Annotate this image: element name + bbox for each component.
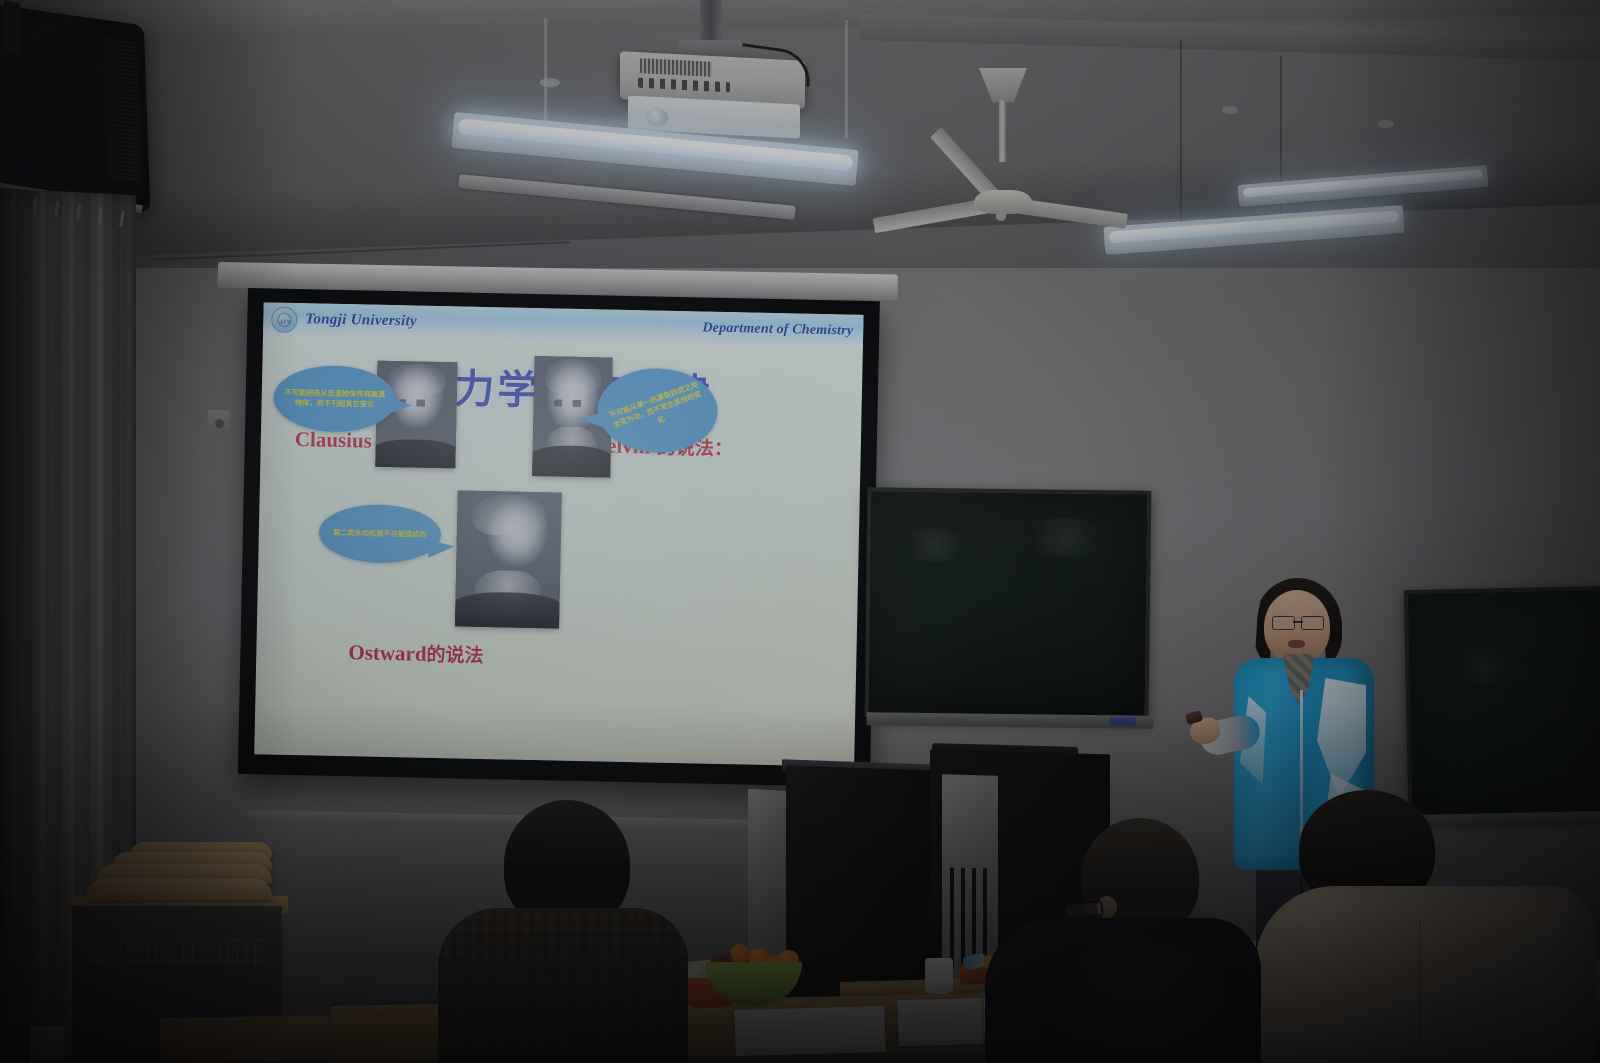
speech-bubble-ostward: 第二类永动机是不可能造成的 — [318, 504, 441, 565]
portrait-shoulders-kelvin — [532, 445, 612, 478]
portrait-ostward — [455, 490, 562, 628]
portrait-shoulders-clausius — [375, 439, 457, 468]
statement-label-ostward: Ostward的说法 — [348, 638, 484, 668]
bottom-shadow-overlay — [0, 703, 1600, 1063]
fan-downrod — [999, 100, 1006, 162]
statement-suffix-ostward: 的说法 — [426, 644, 483, 667]
speech-bubble-tail-ostward — [428, 540, 454, 559]
portrait-face-ostward — [455, 490, 562, 628]
statement-name-ostward: Ostward — [348, 640, 427, 666]
speech-bubble-text-kelvin: 不可能从单一热源取热使之完全变为功，而不发生其他的变化 — [605, 379, 710, 442]
ceiling-hook-icon — [540, 78, 560, 87]
lamp-hanger-wire-left — [544, 18, 547, 130]
chalk-smudge-2 — [1021, 517, 1111, 558]
projector-lens-icon — [646, 107, 668, 126]
slide-header-university: Tongji University — [305, 311, 417, 330]
slide-header: Tongji University Department of Chemistr… — [263, 302, 864, 349]
fan-hub — [974, 190, 1032, 214]
presenter-glasses-bridge — [1293, 621, 1303, 623]
portrait-eyes-kelvin — [554, 400, 592, 408]
portrait-shoulders-ostward — [455, 591, 562, 629]
portrait-hair-clausius — [388, 363, 446, 396]
lecture-hall-scene: Tongji University Department of Chemistr… — [0, 0, 1600, 1063]
fan-pull-chain-icon — [996, 212, 1006, 221]
speech-bubble-text-ostward: 第二类永动机是不可能造成的 — [333, 528, 427, 540]
presenter-mouth — [1288, 640, 1305, 648]
speech-bubble-tail-clausius — [389, 397, 411, 413]
lamp-hanger-wire-right — [845, 20, 848, 138]
slide-header-department: Department of Chemistry — [702, 320, 853, 339]
ceiling-wire-right — [1180, 40, 1182, 230]
portrait-hair-kelvin — [545, 359, 602, 396]
presentation-slide: Tongji University Department of Chemistr… — [254, 302, 863, 766]
blackboard-center — [865, 487, 1152, 720]
speech-bubble-tail-kelvin — [579, 411, 603, 427]
ceiling-hook-icon-2 — [1222, 106, 1238, 114]
portrait-hair-ostward — [471, 493, 547, 535]
chalk-smudge — [901, 528, 971, 563]
